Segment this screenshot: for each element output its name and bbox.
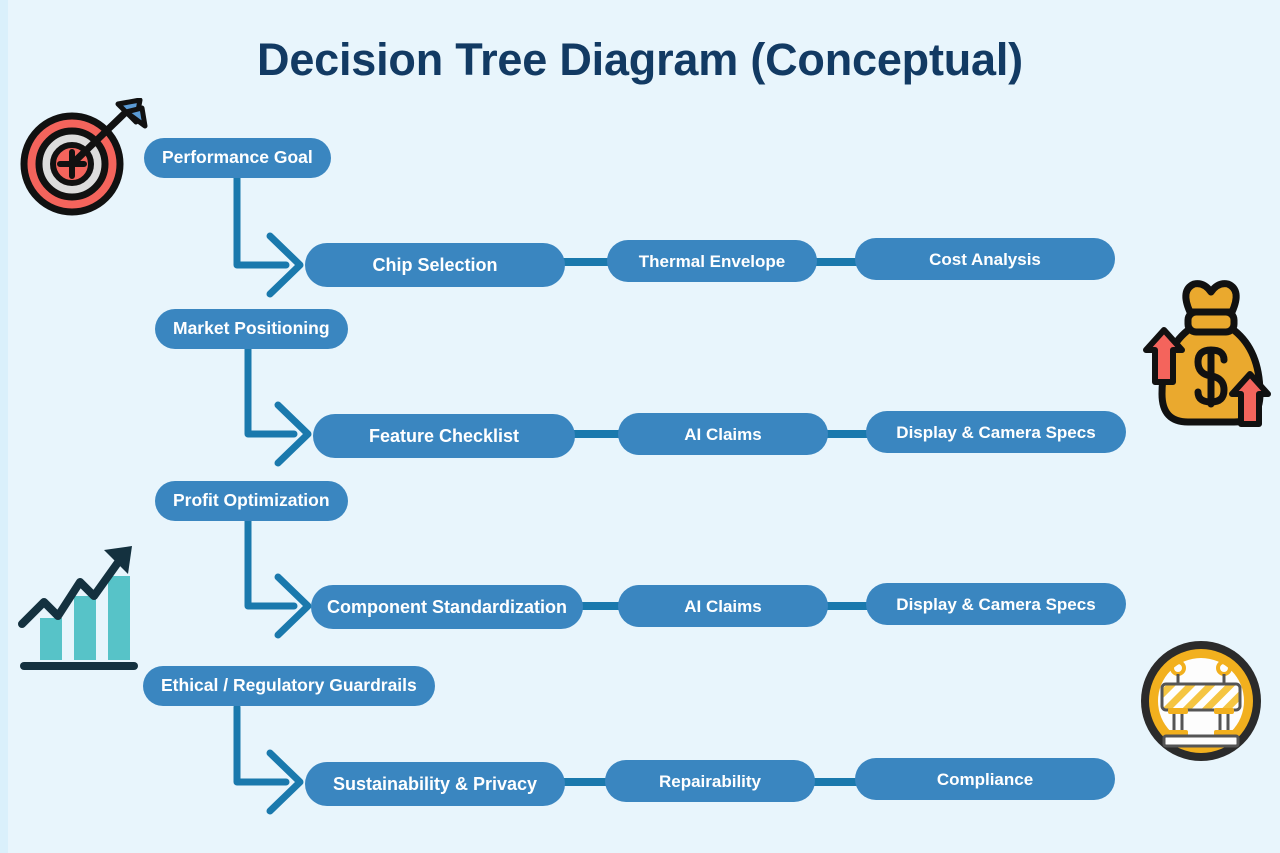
root-node-1[interactable]: Performance Goal — [144, 138, 331, 178]
left-edge-band — [0, 0, 8, 853]
leaf-node-3-2[interactable]: Display & Camera Specs — [866, 583, 1126, 625]
arrowhead-branch-3 — [278, 577, 308, 635]
branch-node-1[interactable]: Chip Selection — [305, 243, 565, 287]
elbow-branch-2 — [248, 349, 294, 434]
leaf-node-1-1[interactable]: Thermal Envelope — [607, 240, 817, 282]
branch-node-3[interactable]: Component Standardization — [311, 585, 583, 629]
root-node-4[interactable]: Ethical / Regulatory Guardrails — [143, 666, 435, 706]
branch-node-2[interactable]: Feature Checklist — [313, 414, 575, 458]
money-bag-icon — [1136, 278, 1276, 435]
road-barrier-badge-icon — [1136, 636, 1266, 771]
elbow-branch-4 — [237, 707, 286, 782]
leaf-node-3-1[interactable]: AI Claims — [618, 585, 828, 627]
root-node-3[interactable]: Profit Optimization — [155, 481, 348, 521]
arrowhead-branch-1 — [270, 236, 300, 294]
page-title: Decision Tree Diagram (Conceptual) — [0, 34, 1280, 86]
branch-node-4[interactable]: Sustainability & Privacy — [305, 762, 565, 806]
elbow-branch-3 — [248, 521, 294, 606]
elbow-branch-1 — [237, 178, 286, 265]
diagram-canvas: Decision Tree Diagram (Conceptual) — [0, 0, 1280, 853]
arrowhead-branch-2 — [278, 405, 308, 463]
arrowhead-branch-4 — [270, 753, 300, 811]
target-dartboard-icon — [14, 98, 150, 223]
leaf-node-4-2[interactable]: Compliance — [855, 758, 1115, 800]
root-node-2[interactable]: Market Positioning — [155, 309, 348, 349]
growth-bar-chart-icon — [14, 542, 144, 677]
leaf-node-1-2[interactable]: Cost Analysis — [855, 238, 1115, 280]
leaf-node-4-1[interactable]: Repairability — [605, 760, 815, 802]
leaf-node-2-1[interactable]: AI Claims — [618, 413, 828, 455]
leaf-node-2-2[interactable]: Display & Camera Specs — [866, 411, 1126, 453]
